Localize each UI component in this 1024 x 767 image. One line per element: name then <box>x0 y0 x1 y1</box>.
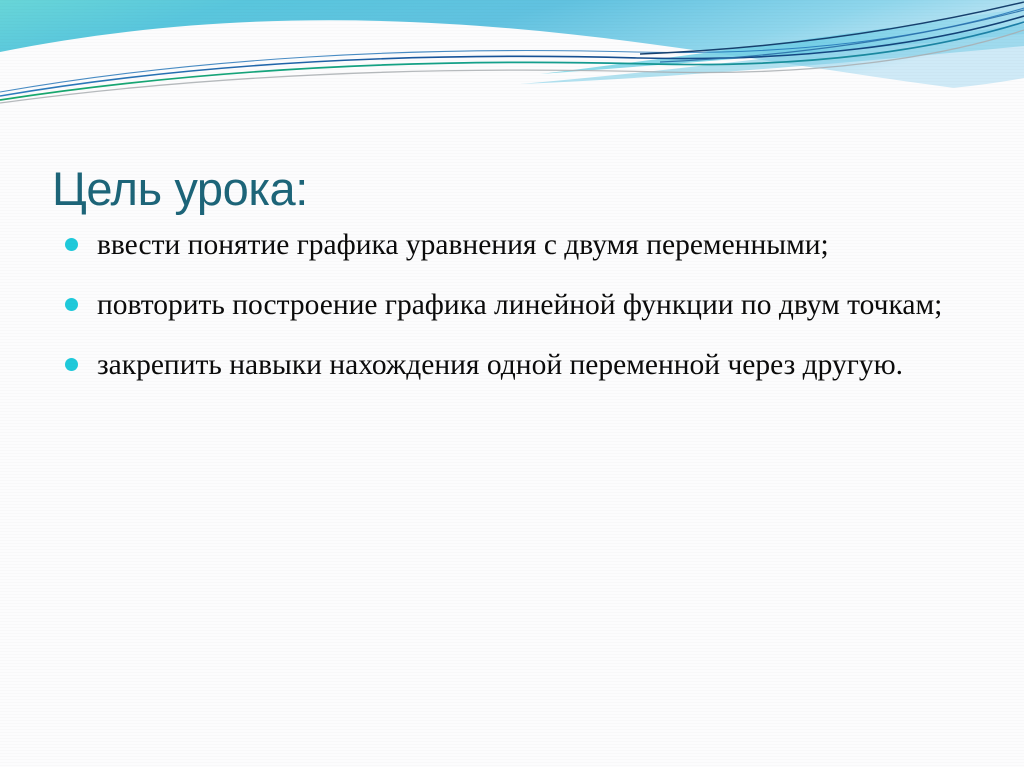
list-item-label: закрепить навыки нахождения одной переме… <box>97 342 992 388</box>
list-item: закрепить навыки нахождения одной переме… <box>52 342 992 388</box>
bullet-dot-icon <box>65 238 78 251</box>
page-title: Цель урока: <box>52 164 308 214</box>
objectives-list: ввести понятие графика уравнения с двумя… <box>52 222 992 402</box>
presentation-slide: Цель урока: ввести понятие графика уравн… <box>0 0 1024 767</box>
bullet-dot-icon <box>65 298 78 311</box>
list-item: ввести понятие графика уравнения с двумя… <box>52 222 992 268</box>
list-item-label: ввести понятие графика уравнения с двумя… <box>97 222 992 268</box>
list-item: повторить построение графика линейной фу… <box>52 282 992 328</box>
slide-content: Цель урока: ввести понятие графика уравн… <box>0 0 1024 767</box>
list-item-label: повторить построение графика линейной фу… <box>97 282 992 328</box>
bullet-dot-icon <box>65 358 78 371</box>
